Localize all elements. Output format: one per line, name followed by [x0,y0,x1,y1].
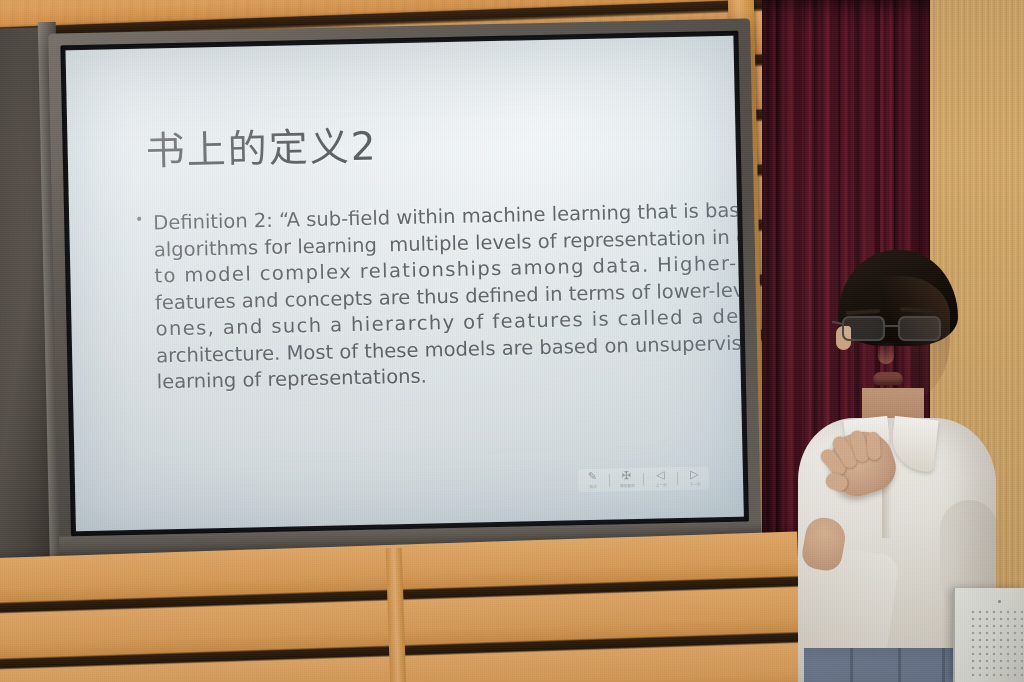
glasses-bridge [885,325,898,327]
trouser-fold [942,648,945,682]
trouser-fold [850,648,853,682]
previous-page-button[interactable]: ◁ 上一页 [650,470,671,487]
slide-title: 书上的定义2 [145,116,378,177]
eraser-tool-label: 清除墨迹 [619,483,634,488]
next-page-button[interactable]: ▷ 下一页 [684,470,705,487]
pen-tool-button[interactable]: ✎ 批注 [582,472,603,489]
presentation-slide[interactable]: 书上的定义2 Definition 2: “A sub-field within… [66,36,744,531]
finger [866,431,881,460]
presenter-mouth [873,372,903,385]
interactive-whiteboard[interactable]: ⌘ 书上的定义2 Definition 2: “A sub-field with… [48,18,762,578]
glasses-icon [840,316,956,342]
cabinet-speaker-grille [971,610,1023,680]
equipment-cabinet [953,588,1024,682]
presenter-nose [878,342,894,364]
display-panel[interactable]: 书上的定义2 Definition 2: “A sub-field within… [60,31,749,537]
bullet-point-icon [137,217,141,221]
next-page-icon: ▷ [690,470,699,481]
previous-page-label: 上一页 [655,482,667,487]
pen-tool-label: 批注 [589,484,597,489]
glasses-lens-left [842,316,885,341]
toolbar-divider [643,473,644,486]
pen-icon: ✎ [588,472,597,483]
previous-page-icon: ◁ [656,470,665,481]
toolbar-divider [677,472,678,485]
slide-body-lines: Definition 2: “A sub-field within machin… [153,198,741,396]
classroom-scene: ⌘ 书上的定义2 Definition 2: “A sub-field with… [0,0,1024,682]
trouser-fold [898,648,901,682]
annotation-toolbar[interactable]: ✎ 批注 ✠ 清除墨迹 ◁ 上一页 ▷ [578,466,709,492]
next-page-label: 下一页 [689,482,701,487]
cabinet-screw-icon [998,600,1001,603]
slide-body: Definition 2: “A sub-field within machin… [137,198,741,397]
eraser-icon: ✠ [622,471,631,482]
eraser-tool-button[interactable]: ✠ 清除墨迹 [616,471,637,488]
glasses-lens-right [898,316,941,341]
toolbar-divider [609,474,610,487]
